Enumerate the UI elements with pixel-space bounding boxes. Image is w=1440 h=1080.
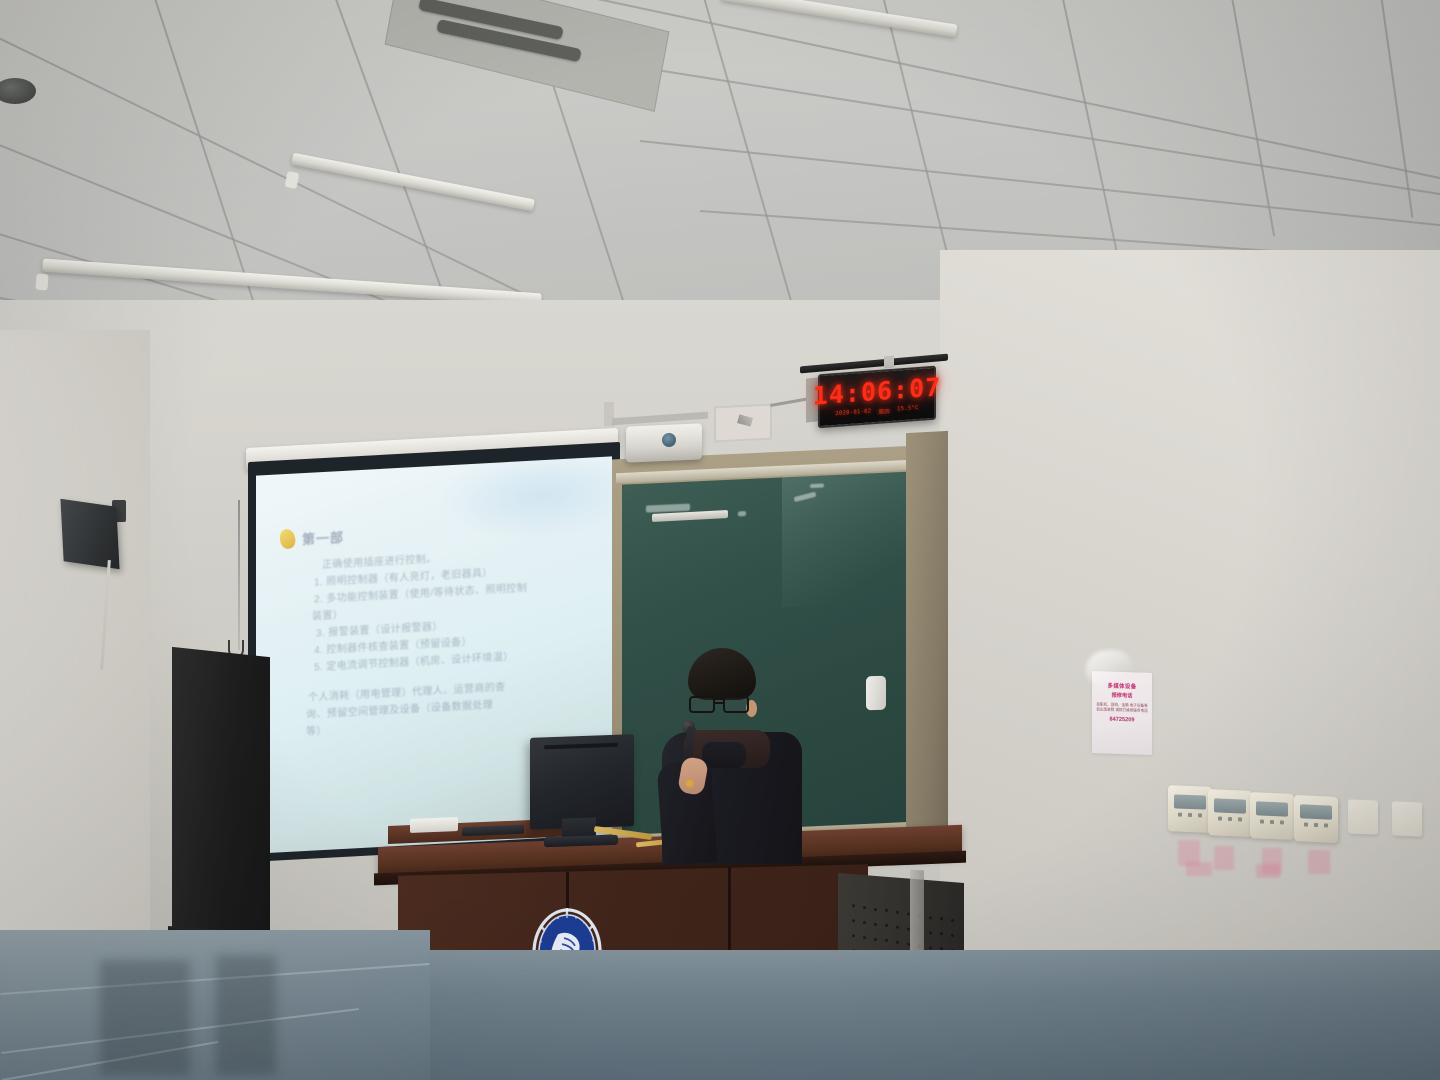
- notice-phone-number: 84725209: [1096, 717, 1148, 725]
- podium-vent-hole: [863, 921, 866, 924]
- podium-vent-hole: [874, 922, 877, 925]
- podium-vent-hole: [885, 909, 888, 912]
- power-outlet[interactable]: [1208, 789, 1252, 837]
- clock-time-display: 14:06:07: [813, 374, 941, 408]
- outlet-pin-hole: [1218, 817, 1222, 821]
- outlet-pin-hole: [1228, 817, 1232, 821]
- podium-vent-hole: [929, 946, 932, 949]
- podium-vent-hole: [885, 939, 888, 942]
- outlet-pin-hole: [1270, 820, 1274, 824]
- wall-residue-mark: [1186, 862, 1212, 876]
- left-wall-return: [0, 330, 150, 970]
- slide-heading: 第一部: [302, 527, 344, 548]
- podium-vent-hole: [885, 924, 888, 927]
- podium-vent-hole: [852, 904, 855, 907]
- outlet-socket-slot: [1174, 794, 1206, 809]
- clock-weekday: 周四: [878, 407, 890, 416]
- wall-residue-mark: [1214, 846, 1234, 870]
- outlet-pin-hole: [1280, 820, 1284, 824]
- podium-vent-hole: [874, 907, 877, 910]
- podium-vent-hole: [896, 941, 899, 944]
- podium-vent-hole: [951, 934, 954, 937]
- clock-mount-nub: [884, 356, 894, 369]
- led-wall-clock: 14:06:07 2020-01-02 周四 15.5°C: [818, 366, 936, 429]
- podium-vent-hole: [852, 934, 855, 937]
- notice-title-line2: 报修电话: [1096, 691, 1148, 700]
- podium-vent-hole: [929, 931, 932, 934]
- microphone-status-led: [686, 780, 693, 787]
- outlet-socket-slot: [1256, 801, 1288, 816]
- podium-vent-hole: [940, 932, 943, 935]
- power-outlet[interactable]: [1294, 795, 1338, 843]
- podium-vent-hole: [863, 936, 866, 939]
- outlet-pin-hole: [1260, 819, 1264, 823]
- podium-vent-hole: [929, 916, 932, 919]
- power-outlet[interactable]: [1250, 792, 1294, 840]
- clock-date: 2020-01-02: [835, 408, 871, 419]
- notice-body-text: 投影机、音响、话筒 电子设备等如出现故障 请拨打维修服务电话: [1096, 702, 1148, 714]
- podium-vent-hole: [863, 906, 866, 909]
- clock-temperature: 15.5°C: [897, 404, 919, 414]
- monitor-vent: [544, 743, 618, 750]
- outlet-pin-hole: [1304, 822, 1308, 826]
- gold-bullet-icon: [278, 527, 297, 551]
- outlet-socket-slot: [1214, 798, 1246, 813]
- chalk-smudge: [810, 484, 824, 489]
- outlet-socket-slot: [1300, 804, 1332, 819]
- outlet-pin-hole: [1324, 823, 1328, 827]
- outlet-pin-hole: [1178, 813, 1182, 817]
- screen-glare: [436, 456, 612, 546]
- chalkboard-right-frame: [906, 431, 948, 865]
- podium-vent-hole: [951, 919, 954, 922]
- desktop-monitor: [530, 734, 634, 830]
- classroom-photo: 第一部 正确使用插座进行控制。 1. 照明控制器（有人亮灯，老旧器具） 2. 多…: [0, 0, 1440, 1080]
- podium-vent-hole: [874, 937, 877, 940]
- eyeglasses-icon: [689, 696, 755, 713]
- blank-wall-plate[interactable]: [1348, 799, 1378, 834]
- classroom-floor-left: [0, 930, 430, 1080]
- white-device-box: [410, 817, 458, 833]
- outlet-pin-hole: [1198, 813, 1202, 817]
- power-outlet[interactable]: [1168, 785, 1212, 833]
- projector-lens-icon: [662, 433, 676, 447]
- screen-pull-cord[interactable]: [238, 500, 240, 650]
- slide-line: 装置）: [312, 606, 343, 623]
- dark-display-panel: [172, 647, 270, 957]
- speaker-presenter: [656, 648, 802, 864]
- chalkboard-eraser[interactable]: [866, 676, 886, 711]
- light-fixture-endcap: [35, 274, 48, 291]
- podium-vent-hole: [896, 911, 899, 914]
- wall-speaker: [60, 499, 119, 569]
- chalkboard-sheen: [782, 471, 916, 607]
- outlet-pin-hole: [1188, 813, 1192, 817]
- slide-line: 等）: [306, 722, 327, 738]
- blank-wall-plate[interactable]: [1392, 801, 1422, 836]
- wall-residue-mark: [1308, 850, 1330, 874]
- chalk-smudge: [738, 511, 746, 516]
- outlet-pin-hole: [1314, 823, 1318, 827]
- outlet-pin-hole: [1238, 817, 1242, 821]
- podium-vent-hole: [896, 926, 899, 929]
- podium-vent-hole: [852, 919, 855, 922]
- chalk-smudge: [646, 504, 690, 513]
- wall-residue-mark: [1256, 864, 1280, 878]
- podium-vent-hole: [940, 917, 943, 920]
- floor-reflection: [216, 955, 276, 1075]
- floor-reflection: [100, 960, 190, 1075]
